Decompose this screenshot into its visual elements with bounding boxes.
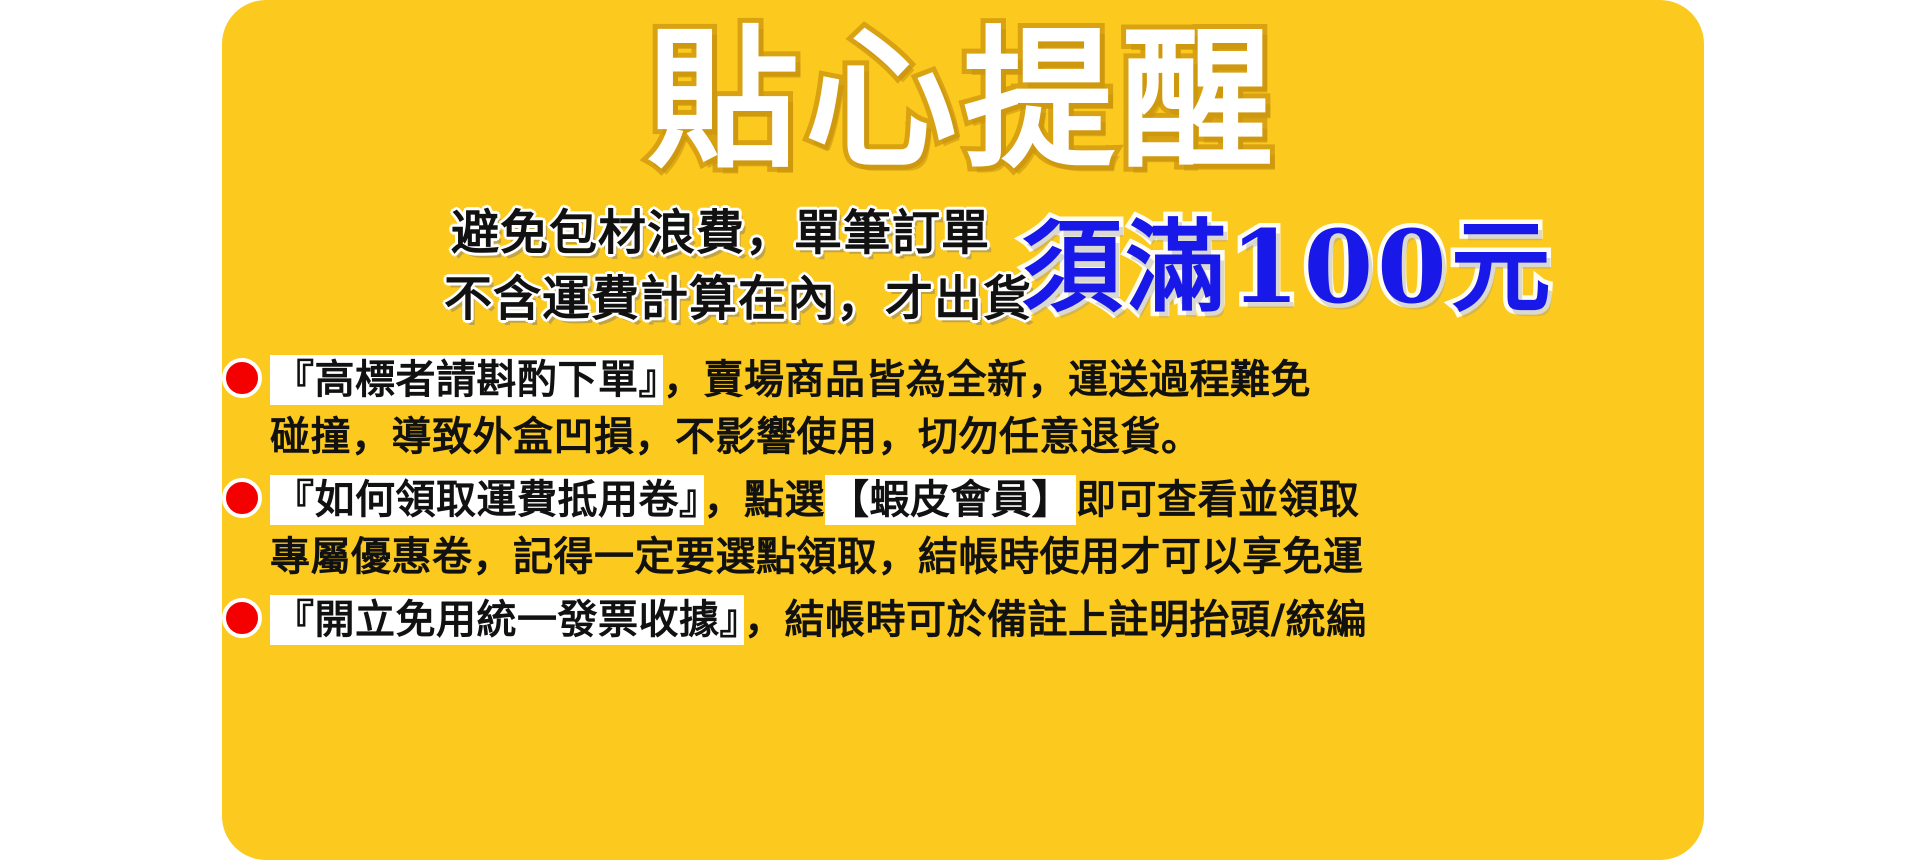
list-item: 『如何領取運費抵用卷』，點選【蝦皮會員】即可查看並領取 專屬優惠卷，記得一定要選… [222,472,1704,586]
bullet-2-highlight: 『如何領取運費抵用卷』 [270,475,704,525]
bullet-2-highlight-2: 【蝦皮會員】 [825,475,1076,525]
bullet-2-mid: ，點選 [704,477,826,523]
bullet-1-continuation: 碰撞，導致外盒凹損，不影響使用，切勿任意退貨。 [222,409,1704,466]
bullet-3-rest: ，結帳時可於備註上註明抬頭/統編 [744,597,1367,643]
bullet-2-primary-line: 『如何領取運費抵用卷』，點選【蝦皮會員】即可查看並領取 [222,472,1704,529]
list-item: 『高標者請斟酌下單』，賣場商品皆為全新，運送過程難免 碰撞，導致外盒凹損，不影響… [222,352,1704,466]
bullet-2-rest: 即可查看並領取 [1076,477,1360,523]
bullet-2-continuation: 專屬優惠卷，記得一定要選點領取，結帳時使用才可以享免運 [222,529,1704,586]
minimum-order-amount: 須滿100元 [1022,208,1555,326]
banner-title-row: 貼心提醒 [222,18,1704,182]
red-dot-icon [222,598,262,638]
bullet-1-primary-line: 『高標者請斟酌下單』，賣場商品皆為全新，運送過程難免 [222,352,1704,409]
notice-bullet-list: 『高標者請斟酌下單』，賣場商品皆為全新，運送過程難免 碰撞，導致外盒凹損，不影響… [222,352,1704,655]
notice-banner-card: 貼心提醒 避免包材浪費，單筆訂單 不含運費計算在內，才出貨 須滿100元 『高標… [222,0,1704,860]
bullet-1-highlight: 『高標者請斟酌下單』 [270,355,663,405]
red-dot-icon [222,478,262,518]
bullet-1-rest: ，賣場商品皆為全新，運送過程難免 [663,357,1311,403]
bullet-3-primary-line: 『開立免用統一發票收據』，結帳時可於備註上註明抬頭/統編 [222,592,1704,649]
headline-line-1: 避免包材浪費，單筆訂單 [232,200,1032,266]
headline-lines: 避免包材浪費，單筆訂單 不含運費計算在內，才出貨 [232,200,1032,332]
page-title: 貼心提醒 [647,18,1279,182]
red-dot-icon [222,358,262,398]
headline-line-2: 不含運費計算在內，才出貨 [232,266,1032,332]
list-item: 『開立免用統一發票收據』，結帳時可於備註上註明抬頭/統編 [222,592,1704,649]
bullet-3-highlight: 『開立免用統一發票收據』 [270,595,744,645]
headline-block: 避免包材浪費，單筆訂單 不含運費計算在內，才出貨 須滿100元 [222,200,1704,340]
